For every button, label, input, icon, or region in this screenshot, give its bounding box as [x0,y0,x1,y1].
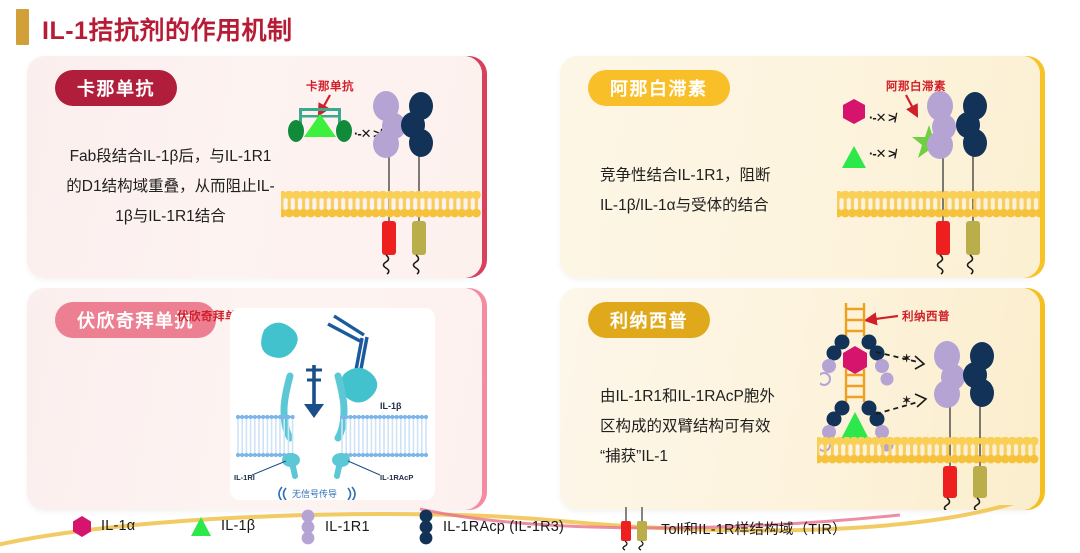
receptor-navy-icon [418,509,434,545]
panel-vixarelimab: 伏欣奇拜单抗 伏欣奇拜单抗 IL-1β [27,288,482,510]
panel-anakinra-badge: 阿那白滞素 [588,70,730,106]
panel-canakinumab-text: Fab段结合IL-1β后，与IL-1R1的D1结构域重叠，从而阻止IL-1β与I… [63,142,278,232]
legend-label-il1r1: IL-1R1 [325,519,370,535]
legend-item-tir: Toll和IL-1R样结构域（TIR） [618,505,847,551]
legend-label-il1a: IL-1α [101,518,135,534]
page-header: IL-1拮抗剂的作用机制 [0,0,1080,52]
panel-anakinra-figure: 阿那白滞素 ·-✕ ≯ ·-✕ ≯ [838,66,1040,278]
canakinumab-tir-domains [282,221,482,278]
panel-anakinra: 阿那白滞素 竞争性结合IL-1R1，阻断 IL-1β/IL-1α与受体的结合 阿… [560,56,1040,278]
legend-item-il1a: IL-1α [72,515,135,537]
legend-label-tir: Toll和IL-1R样结构域（TIR） [661,518,847,539]
panel-canakinumab-badge: 卡那单抗 [55,70,177,106]
legend-item-il1b: IL-1β [190,515,255,537]
panel-anakinra-text: 竞争性结合IL-1R1，阻断 IL-1β/IL-1α与受体的结合 [600,161,850,221]
panel-vixarelimab-figure: 伏欣奇拜单抗 IL-1β [177,294,482,506]
tir-domain-icon [618,505,652,551]
panel-canakinumab-figure: 卡那单抗 ·-✕ ≯ [282,66,482,278]
svg-text:IL-1RI: IL-1RI [234,473,255,482]
legend-item-il1racp: IL-1RAcp (IL-1R3) [418,509,564,545]
svg-text:IL-1RAcP: IL-1RAcP [380,473,413,482]
membrane-bilayer-icon [817,437,1040,469]
legend-label-il1racp: IL-1RAcp (IL-1R3) [443,519,564,535]
vixarelimab-diagram: IL-1β [230,308,435,500]
panel-rilonacept-badge: 利纳西普 [588,302,710,338]
svg-text:IL-1β: IL-1β [380,401,402,411]
panel-rilonacept: 利纳西普 由IL-1R1和IL-1RAcP胞外 区构成的双臂结构可有效 “捕获”… [560,288,1040,510]
legend-item-il1r1: IL-1R1 [300,509,370,545]
panel-rilonacept-text: 由IL-1R1和IL-1RAcP胞外 区构成的双臂结构可有效 “捕获”IL-1 [600,382,850,472]
membrane-bilayer-icon [837,191,1040,223]
receptor-purple-icon [300,509,316,545]
panel-rilonacept-figure: 利纳西普 [818,294,1040,510]
panel-canakinumab: 卡那单抗 Fab段结合IL-1β后，与IL-1R1的D1结构域重叠，从而阻止IL… [27,56,482,278]
svg-text:无信号传导: 无信号传导 [292,488,337,499]
membrane-bilayer-icon [281,191,482,223]
page-title: IL-1拮抗剂的作用机制 [42,11,292,47]
rilonacept-tir-domains [818,466,1040,510]
anakinra-tir-domains [838,221,1040,278]
legend-label-il1b: IL-1β [221,518,255,534]
hexagon-icon [72,515,92,537]
triangle-icon [190,515,212,537]
header-accent-bar [16,9,29,45]
legend: IL-1α IL-1β IL-1R1 IL-1RAcp (IL-1R3) [0,505,1080,553]
